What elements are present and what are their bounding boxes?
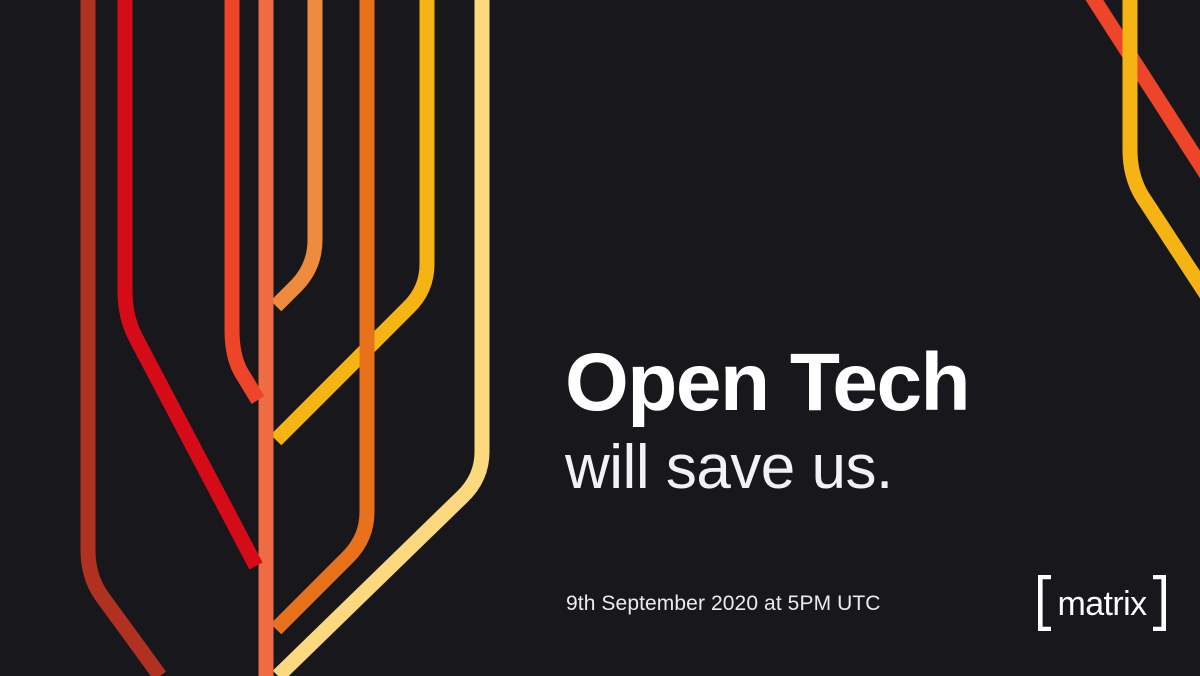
matrix-tree-lines-graphic: [0, 0, 560, 676]
page-title: Open Tech: [565, 340, 1185, 425]
matrix-logo: matrix: [1038, 575, 1166, 631]
poster-canvas: Open Tech will save us. 9th September 20…: [0, 0, 1200, 676]
event-date: 9th September 2020 at 5PM UTC: [566, 592, 881, 616]
matrix-logo-mark: matrix: [1038, 575, 1166, 631]
strand-light-orange: [276, 0, 315, 306]
page-subtitle: will save us.: [565, 431, 1185, 504]
headline-block: Open Tech will save us.: [565, 340, 1185, 504]
matrix-wordmark: matrix: [1058, 585, 1148, 623]
poster-content: Open Tech will save us. 9th September 20…: [560, 0, 1200, 676]
bracket-left-icon: [1038, 575, 1051, 631]
bracket-right-icon: [1153, 575, 1166, 631]
strand-red-orange: [232, 0, 258, 400]
strand-amber: [276, 0, 427, 440]
